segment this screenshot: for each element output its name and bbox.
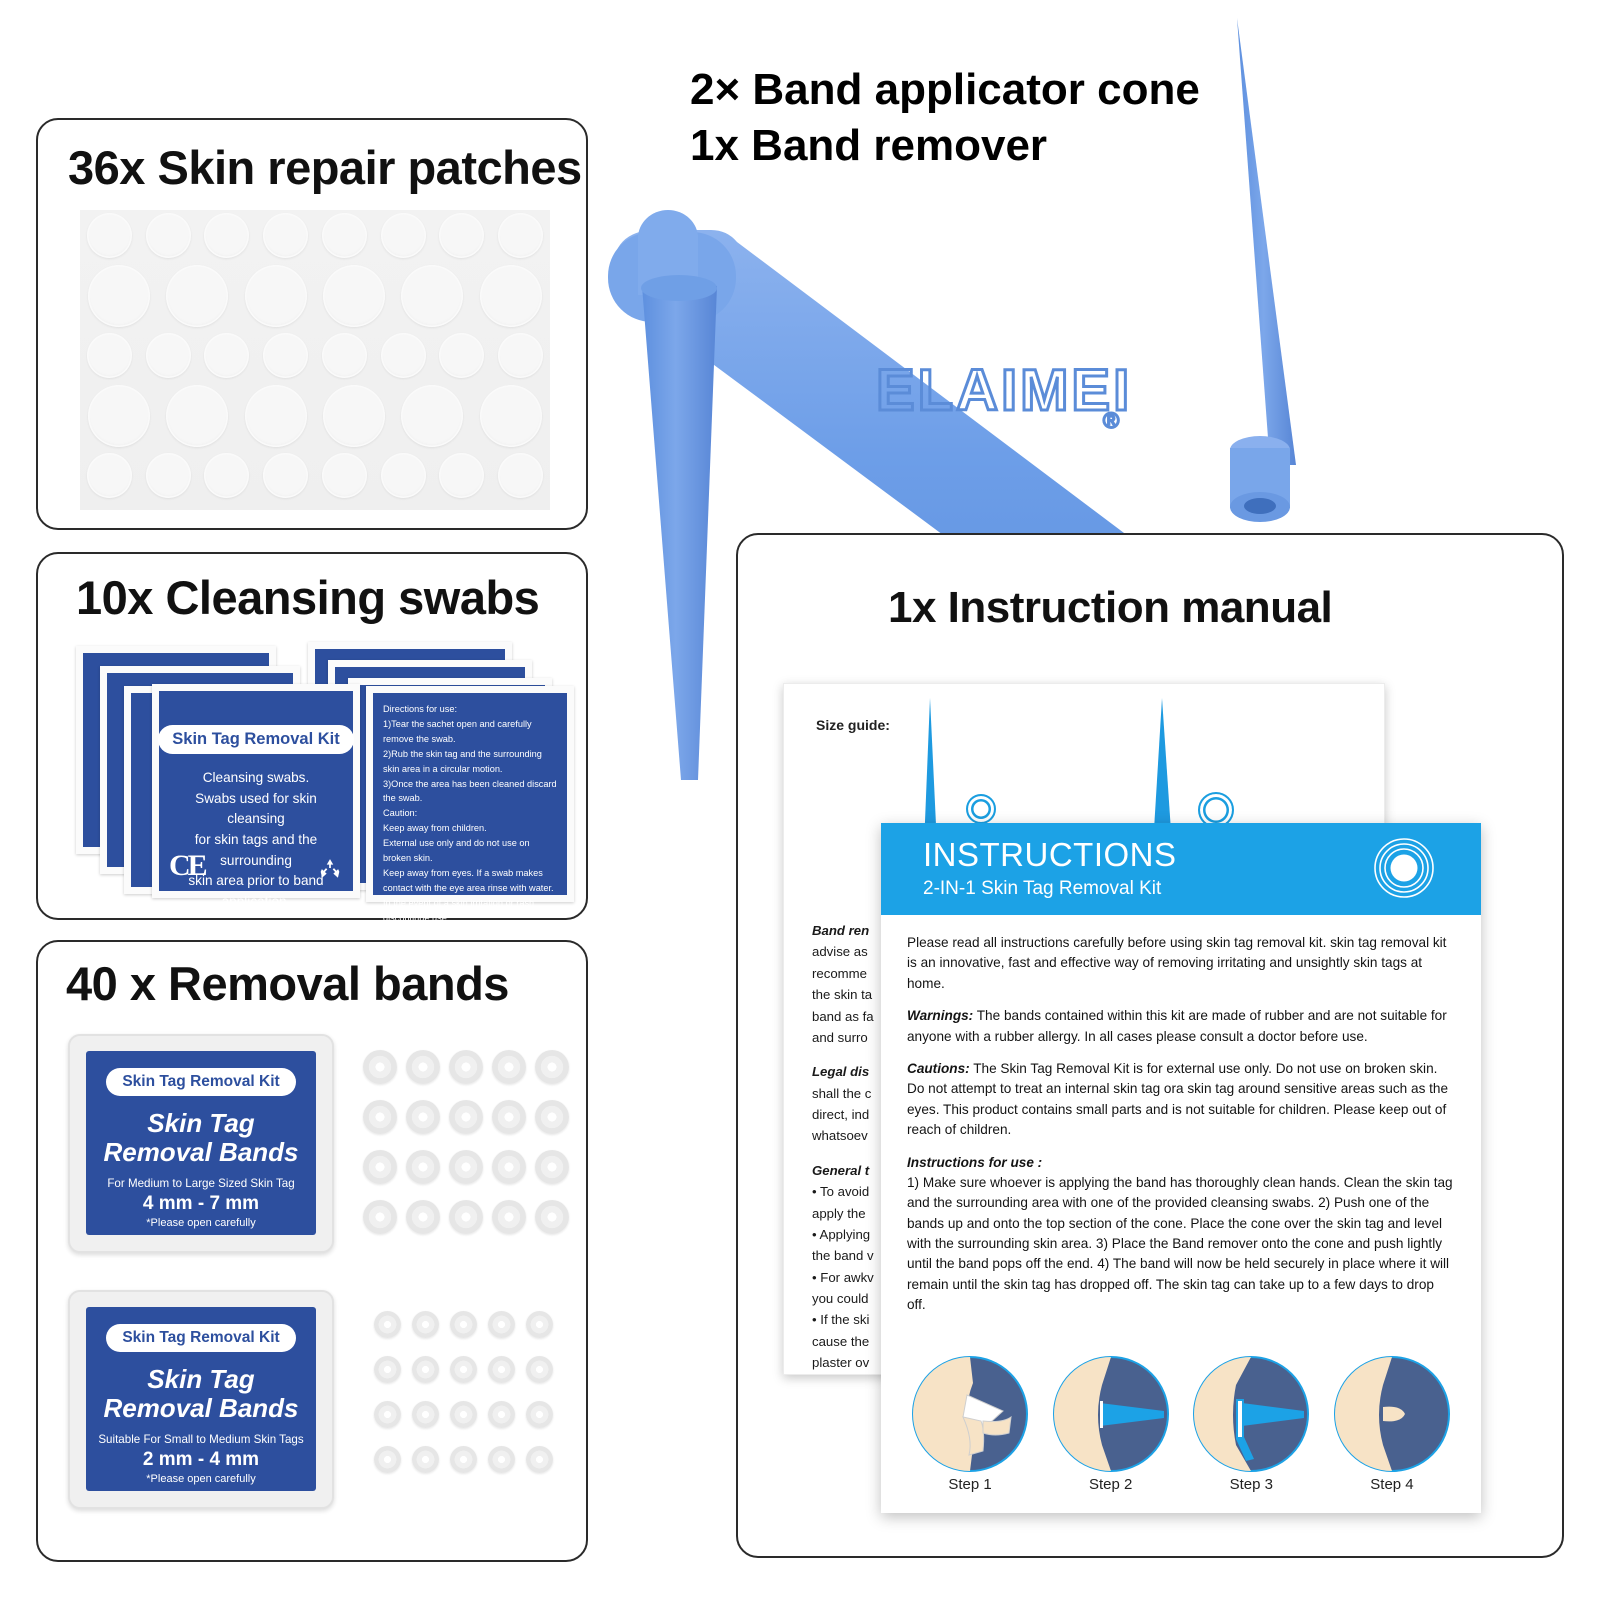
skin-repair-patch	[401, 385, 463, 447]
ce-mark-icon: CE	[169, 849, 205, 883]
case-suitability: For Medium to Large Sized Skin Tag	[107, 1177, 294, 1190]
removal-band-ring	[488, 1401, 515, 1428]
skin-repair-patch	[88, 385, 150, 447]
skin-repair-patch	[439, 333, 484, 378]
step-4: Step 4	[1327, 1355, 1457, 1493]
swabs-title: 10x Cleansing swabs	[76, 570, 539, 625]
step-label: Step 1	[905, 1476, 1035, 1493]
directions-line: Keep away from children.	[383, 821, 557, 836]
removal-band-ring	[406, 1150, 440, 1184]
skin-repair-patch	[480, 265, 542, 327]
removal-band-ring	[363, 1200, 397, 1234]
case-title-line1: Skin Tag	[103, 1109, 298, 1138]
removal-band-ring	[449, 1150, 483, 1184]
step-3: Step 3	[1186, 1355, 1316, 1493]
patch-row	[80, 261, 550, 330]
manual-intro: Please read all instructions carefully b…	[907, 933, 1455, 994]
removal-band-ring	[412, 1356, 439, 1383]
removal-band-ring	[488, 1311, 515, 1338]
swab-sachet-stack: Skin Tag Removal Kit Cleansing swabs. Sw…	[66, 640, 566, 902]
skin-repair-patch	[263, 333, 308, 378]
warnings-text: The bands contained within this kit are …	[907, 1008, 1447, 1043]
removal-band-ring	[449, 1050, 483, 1084]
size-guide-ring-small-icon	[966, 794, 996, 824]
sachet-line-2: Swabs used for skin cleansing	[171, 789, 341, 830]
skin-repair-patch	[322, 213, 367, 258]
cone-placement-icon	[1052, 1355, 1170, 1473]
removal-band-ring	[363, 1050, 397, 1084]
brand-emboss-text: ELAIMEI	[876, 358, 1132, 423]
removal-band-ring	[535, 1100, 569, 1134]
skin-repair-patch	[381, 333, 426, 378]
case-suitability: Suitable For Small to Medium Skin Tags	[98, 1433, 303, 1446]
instructions-label: Instructions for use :	[907, 1155, 1042, 1170]
removal-band-ring	[412, 1311, 439, 1338]
patches-title: 36x Skin repair patches	[68, 140, 582, 195]
removal-band-ring	[406, 1200, 440, 1234]
removal-band-ring	[450, 1446, 477, 1473]
concentric-rings-logo-icon	[1373, 837, 1435, 899]
removal-band-ring	[535, 1050, 569, 1084]
manual-title: 1x Instruction manual	[888, 583, 1332, 633]
removal-band-ring	[488, 1356, 515, 1383]
cautions-label: Cautions:	[907, 1061, 970, 1076]
case-title-line2: Removal Bands	[103, 1394, 298, 1423]
case-brand-pill: Skin Tag Removal Kit	[106, 1324, 295, 1352]
skin-repair-patch	[323, 265, 385, 327]
band-case-large: Skin Tag Removal Kit Skin Tag Removal Ba…	[68, 1034, 334, 1253]
band-remover-icon	[1192, 1355, 1310, 1473]
directions-line: Caution:	[383, 806, 557, 821]
directions-line: 3)Once the area has been cleaned discard…	[383, 777, 557, 807]
manual-cautions: Cautions: The Skin Tag Removal Kit is fo…	[907, 1059, 1455, 1141]
skin-repair-patch	[245, 385, 307, 447]
skin-repair-patch	[87, 453, 132, 498]
skin-repair-patch	[166, 385, 228, 447]
step-label: Step 4	[1327, 1476, 1457, 1493]
banner-subtitle: 2-IN-1 Skin Tag Removal Kit	[923, 878, 1161, 900]
sachet-line-1: Cleansing swabs.	[171, 768, 341, 789]
skin-repair-patch	[88, 265, 150, 327]
case-open-note: *Please open carefully	[146, 1473, 255, 1485]
warnings-label: Warnings:	[907, 1008, 973, 1023]
skin-repair-patch	[401, 265, 463, 327]
patch-row	[80, 330, 550, 381]
patch-row	[80, 381, 550, 450]
skin-repair-patch	[263, 213, 308, 258]
removal-band-ring	[488, 1446, 515, 1473]
step-label: Step 2	[1046, 1476, 1176, 1493]
case-title-line1: Skin Tag	[103, 1365, 298, 1394]
removal-band-ring	[412, 1401, 439, 1428]
removal-band-ring	[526, 1446, 553, 1473]
skin-repair-patch	[204, 333, 249, 378]
step-label: Step 3	[1186, 1476, 1316, 1493]
patch-row	[80, 450, 550, 501]
removal-band-ring	[406, 1050, 440, 1084]
skin-repair-patch	[498, 453, 543, 498]
skin-repair-patch	[87, 333, 132, 378]
removal-band-ring	[374, 1446, 401, 1473]
removal-band-ring	[535, 1150, 569, 1184]
instructions-text: 1) Make sure whoever is applying the ban…	[907, 1175, 1453, 1312]
removal-band-ring	[363, 1100, 397, 1134]
cautions-text: The Skin Tag Removal Kit is for external…	[907, 1061, 1448, 1137]
removal-band-ring	[535, 1200, 569, 1234]
step-illustrations: Step 1 Step 2 Step 3	[905, 1355, 1457, 1493]
svg-text:®: ®	[1103, 408, 1119, 433]
bands-title: 40 x Removal bands	[66, 956, 509, 1011]
directions-line: Keep away from eyes. If a swab makes con…	[383, 866, 557, 896]
skin-repair-patch	[381, 453, 426, 498]
removal-band-ring	[412, 1446, 439, 1473]
removal-band-ring	[492, 1050, 526, 1084]
patch-sheet-image	[80, 210, 550, 510]
case-size-range: 2 mm - 4 mm	[143, 1449, 259, 1471]
panel-skin-repair-patches: 36x Skin repair patches	[36, 118, 588, 530]
skin-repair-patch	[498, 213, 543, 258]
removal-band-ring	[526, 1356, 553, 1383]
band-rings-large	[358, 1042, 573, 1242]
removal-band-ring	[374, 1401, 401, 1428]
removal-band-ring	[492, 1150, 526, 1184]
band-rings-small	[368, 1302, 558, 1482]
case-brand-pill: Skin Tag Removal Kit	[106, 1068, 295, 1096]
skin-repair-patch	[439, 453, 484, 498]
skin-repair-patch	[204, 453, 249, 498]
removal-band-ring	[449, 1100, 483, 1134]
removal-band-ring	[492, 1200, 526, 1234]
skin-repair-patch	[146, 453, 191, 498]
removal-band-ring	[449, 1200, 483, 1234]
case-open-note: *Please open carefully	[146, 1217, 255, 1229]
recycle-icon	[317, 857, 343, 883]
sachet-directions: Directions for use: 1)Tear the sachet op…	[366, 686, 574, 902]
removal-band-ring	[374, 1356, 401, 1383]
skin-repair-patch	[204, 213, 249, 258]
case-title-line2: Removal Bands	[103, 1138, 298, 1167]
directions-line: 1)Tear the sachet open and carefully rem…	[383, 717, 557, 747]
case-size-range: 4 mm - 7 mm	[143, 1193, 259, 1215]
skin-repair-patch	[480, 385, 542, 447]
removal-band-ring	[492, 1100, 526, 1134]
directions-line: 2)Rub the skin tag and the surrounding s…	[383, 747, 557, 777]
band-in-place-icon	[1333, 1355, 1451, 1473]
removal-band-ring	[406, 1100, 440, 1134]
skin-repair-patch	[381, 213, 426, 258]
manual-instructions: Instructions for use :1) Make sure whoev…	[907, 1153, 1455, 1316]
skin-repair-patch	[146, 213, 191, 258]
skin-repair-patch	[322, 333, 367, 378]
sachet-brand-pill: Skin Tag Removal Kit	[158, 725, 353, 754]
swab-cleaning-icon	[911, 1355, 1029, 1473]
manual-front-page: INSTRUCTIONS 2-IN-1 Skin Tag Removal Kit…	[881, 823, 1481, 1513]
removal-band-ring	[526, 1311, 553, 1338]
panel-instruction-manual: 1x Instruction manual Size guide: Band r…	[736, 533, 1564, 1558]
size-guide-label: Size guide:	[816, 717, 890, 733]
band-case-small: Skin Tag Removal Kit Skin Tag Removal Ba…	[68, 1290, 334, 1509]
skin-repair-patch	[146, 333, 191, 378]
sachet-front: Skin Tag Removal Kit Cleansing swabs. Sw…	[152, 684, 360, 898]
panel-removal-bands: 40 x Removal bands Skin Tag Removal Kit …	[36, 940, 588, 1562]
directions-line: In the event of a skin irritation or ras…	[383, 896, 557, 926]
step-2: Step 2	[1046, 1355, 1176, 1493]
banner-title: INSTRUCTIONS	[923, 836, 1177, 874]
removal-band-ring	[450, 1356, 477, 1383]
instructions-banner: INSTRUCTIONS 2-IN-1 Skin Tag Removal Kit	[881, 823, 1481, 915]
removal-band-ring	[374, 1311, 401, 1338]
skin-repair-patch	[87, 213, 132, 258]
patch-row	[80, 210, 550, 261]
skin-repair-patch	[323, 385, 385, 447]
skin-repair-patch	[322, 453, 367, 498]
directions-heading: Directions for use:	[383, 702, 557, 717]
step-1: Step 1	[905, 1355, 1035, 1493]
manual-warnings: Warnings: The bands contained within thi…	[907, 1006, 1455, 1047]
skin-repair-patch	[263, 453, 308, 498]
removal-band-ring	[526, 1401, 553, 1428]
removal-band-ring	[450, 1311, 477, 1338]
removal-band-ring	[450, 1401, 477, 1428]
panel-cleansing-swabs: 10x Cleansing swabs Skin Tag Removal Kit…	[36, 552, 588, 920]
removal-band-ring	[363, 1150, 397, 1184]
directions-line: External use only and do not use on brok…	[383, 836, 557, 866]
skin-repair-patch	[439, 213, 484, 258]
manual-body-text: Please read all instructions carefully b…	[881, 915, 1481, 1316]
skin-repair-patch	[245, 265, 307, 327]
skin-repair-patch	[498, 333, 543, 378]
skin-repair-patch	[166, 265, 228, 327]
